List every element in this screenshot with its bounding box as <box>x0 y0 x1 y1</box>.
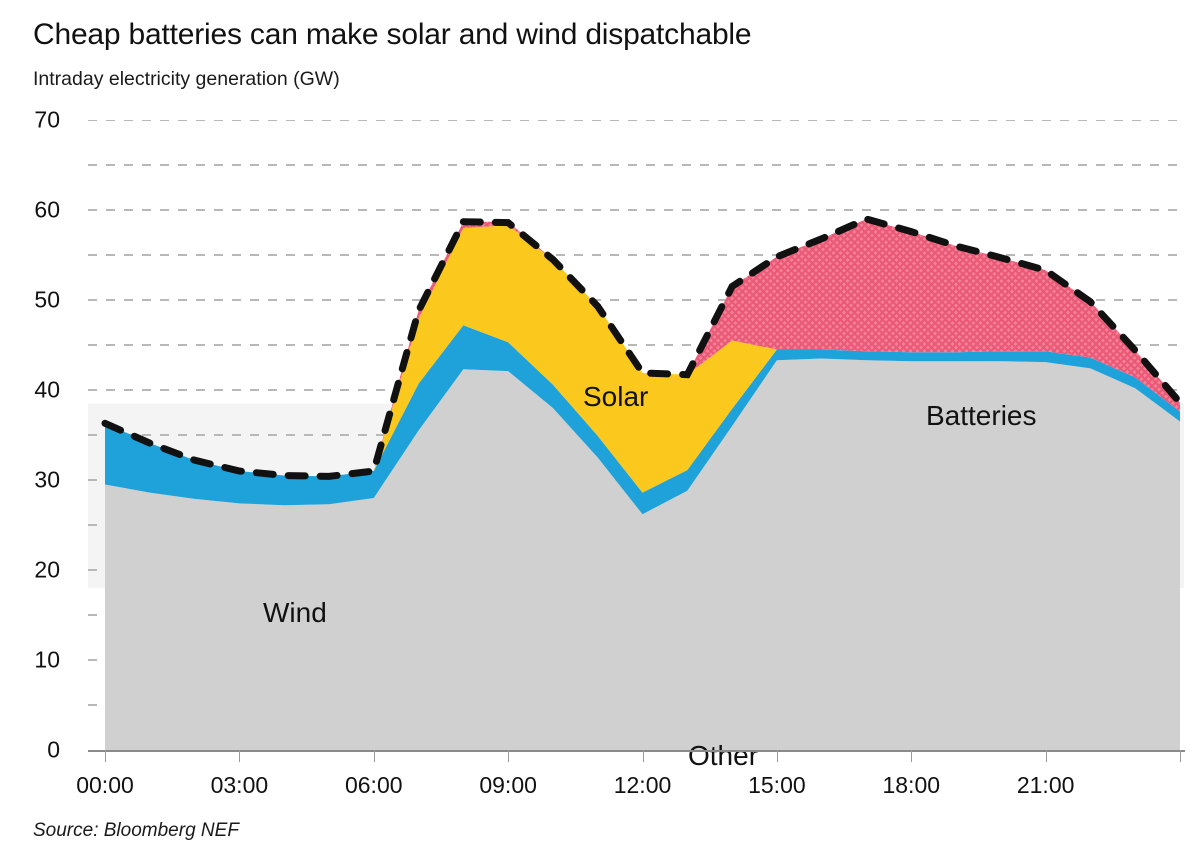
y-axis-tick-label: 70 <box>0 109 60 132</box>
x-axis-tick-mark <box>105 750 106 762</box>
x-axis-tick-label: 06:00 <box>304 772 444 799</box>
series-label-solar: Solar <box>583 381 648 413</box>
series-label-other: Other <box>688 740 758 772</box>
x-axis-tick-label: 21:00 <box>976 772 1116 799</box>
y-axis-tick-label: 30 <box>0 469 60 492</box>
x-axis-tick-mark <box>239 750 240 762</box>
y-axis-tick-label: 10 <box>0 649 60 672</box>
chart-subtitle: Intraday electricity generation (GW) <box>33 68 340 91</box>
x-axis-tick-label: 15:00 <box>707 772 847 799</box>
chart-page: Cheap batteries can make solar and wind … <box>0 0 1200 856</box>
source-note: Source: Bloomberg NEF <box>33 820 239 842</box>
x-axis-tick-label: 18:00 <box>841 772 981 799</box>
page-title: Cheap batteries can make solar and wind … <box>33 18 751 52</box>
x-axis-tick-mark <box>777 750 778 762</box>
y-axis-tick-label: 20 <box>0 559 60 582</box>
y-axis-tick-label: 50 <box>0 289 60 312</box>
plot-area: Wind Solar Batteries Other <box>88 120 1184 750</box>
x-axis-tick-label: 00:00 <box>35 772 175 799</box>
x-axis-tick-label: 12:00 <box>573 772 713 799</box>
series-label-batteries: Batteries <box>926 400 1037 432</box>
area-chart-svg <box>88 120 1184 750</box>
y-axis-tick-label: 40 <box>0 379 60 402</box>
x-axis-tick-mark <box>911 750 912 762</box>
x-axis-tick-mark <box>508 750 509 762</box>
x-axis-tick-label: 03:00 <box>169 772 309 799</box>
series-label-wind: Wind <box>263 597 327 629</box>
y-axis-tick-label: 60 <box>0 199 60 222</box>
x-axis-tick-mark <box>374 750 375 762</box>
x-axis-tick-mark <box>1180 750 1181 762</box>
x-axis-tick-mark <box>1046 750 1047 762</box>
x-axis-tick-label: 09:00 <box>438 772 578 799</box>
x-axis-tick-mark <box>643 750 644 762</box>
y-axis-tick-label: 0 <box>0 739 60 762</box>
x-axis-line <box>88 750 1185 752</box>
